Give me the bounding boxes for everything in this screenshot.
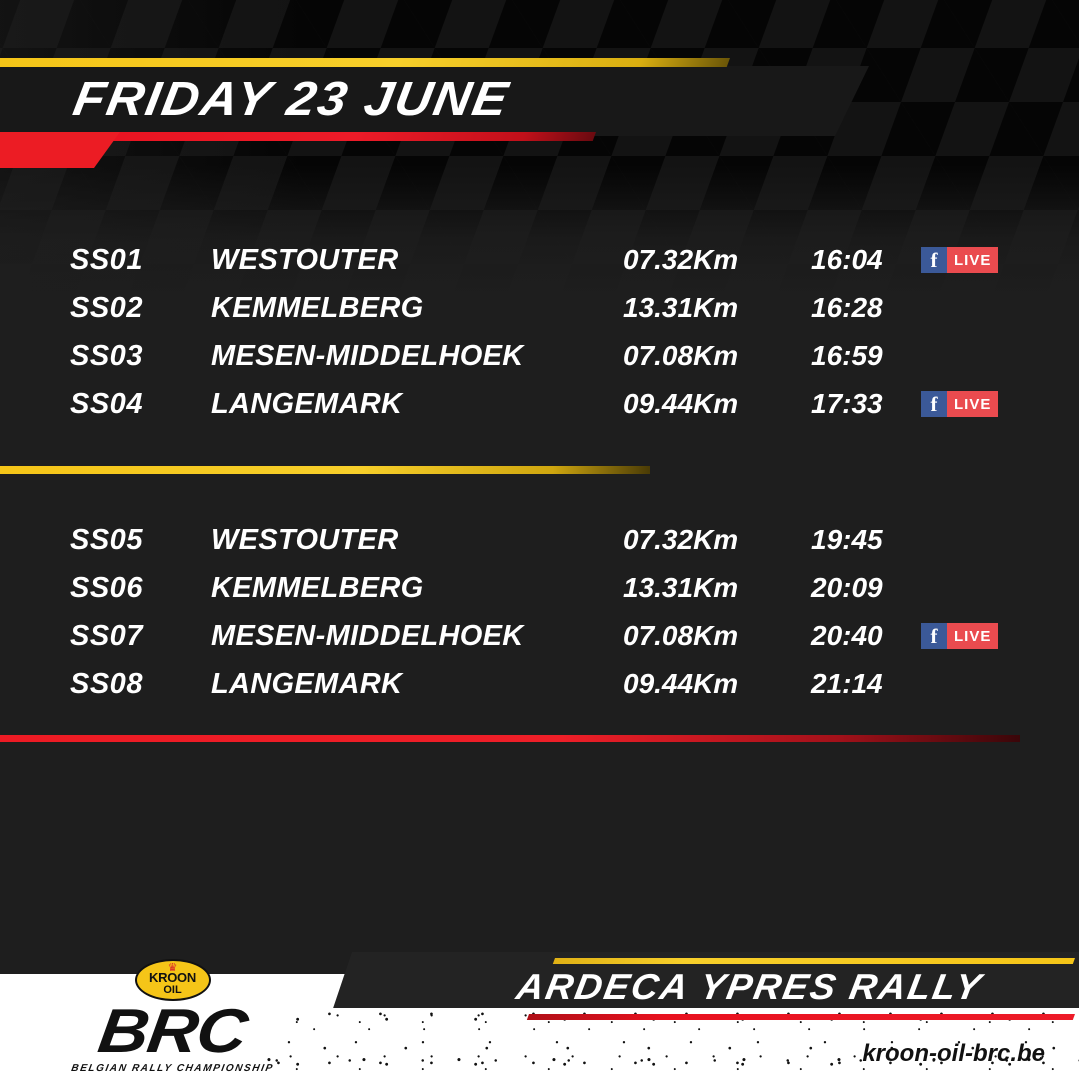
table-row[interactable]: SS03 MESEN-MIDDELHOEK 07.08Km 16:59 f LI… xyxy=(0,332,1079,380)
stage-code: SS07 xyxy=(70,620,211,653)
live-cell: f LIVE xyxy=(921,343,1011,369)
table-row[interactable]: SS07 MESEN-MIDDELHOEK 07.08Km 20:40 f LI… xyxy=(0,612,1079,660)
live-label: LIVE xyxy=(947,623,998,649)
stage-time: 21:14 xyxy=(811,668,921,700)
stage-time: 19:45 xyxy=(811,524,921,556)
live-cell: f LIVE xyxy=(921,247,1011,273)
facebook-live-badge[interactable]: f LIVE xyxy=(921,623,998,649)
table-row[interactable]: SS01 WESTOUTER 07.32Km 16:04 f LIVE xyxy=(0,236,1079,284)
stage-distance: 13.31Km xyxy=(623,292,811,324)
stage-code: SS08 xyxy=(70,668,211,701)
stage-time: 16:04 xyxy=(811,244,921,276)
live-cell: f LIVE xyxy=(921,295,1011,321)
crown-icon: ♛ xyxy=(168,963,178,974)
live-cell: f LIVE xyxy=(921,527,1011,553)
stage-group-loop-1: SS01 WESTOUTER 07.32Km 16:04 f LIVE SS02… xyxy=(0,236,1079,428)
stage-code: SS04 xyxy=(70,388,211,421)
facebook-live-badge[interactable]: f LIVE xyxy=(921,391,998,417)
stage-distance: 07.32Km xyxy=(623,524,811,556)
stage-distance: 09.44Km xyxy=(623,668,811,700)
stage-time: 20:40 xyxy=(811,620,921,652)
rally-schedule-poster: FRIDAY 23 JUNE SS01 WESTOUTER 07.32Km 16… xyxy=(0,0,1079,1080)
stage-distance: 07.08Km xyxy=(623,340,811,372)
website-url[interactable]: kroon-oil-brc.be xyxy=(862,1040,1045,1068)
brc-tagline: BELGIAN RALLY CHAMPIONSHIP xyxy=(59,1063,286,1074)
facebook-icon: f xyxy=(921,247,947,273)
stage-name: KEMMELBERG xyxy=(211,292,623,325)
event-red-accent-bar xyxy=(527,1014,1075,1020)
divider-red xyxy=(0,735,1020,742)
table-row[interactable]: SS08 LANGEMARK 09.44Km 21:14 f LIVE xyxy=(0,660,1079,708)
facebook-icon: f xyxy=(921,623,947,649)
stage-time: 16:59 xyxy=(811,340,921,372)
stage-distance: 07.32Km xyxy=(623,244,811,276)
brc-wordmark: BRC xyxy=(42,1003,302,1060)
footer: ♛ KROON OIL BRC BELGIAN RALLY CHAMPIONSH… xyxy=(0,952,1079,1080)
stage-distance: 13.31Km xyxy=(623,572,811,604)
stage-name: LANGEMARK xyxy=(211,388,623,421)
stage-schedule: SS01 WESTOUTER 07.32Km 16:04 f LIVE SS02… xyxy=(0,236,1079,708)
stage-code: SS06 xyxy=(70,572,211,605)
stage-code: SS01 xyxy=(70,244,211,277)
kroon-oil-logo: ♛ KROON OIL xyxy=(135,959,211,1001)
stage-name: MESEN-MIDDELHOEK xyxy=(211,340,623,373)
stage-name: WESTOUTER xyxy=(211,244,623,277)
event-name: ARDECA YPRES RALLY xyxy=(513,966,986,1008)
stage-code: SS05 xyxy=(70,524,211,557)
facebook-icon: f xyxy=(921,391,947,417)
live-cell: f LIVE xyxy=(921,671,1011,697)
table-row[interactable]: SS04 LANGEMARK 09.44Km 17:33 f LIVE xyxy=(0,380,1079,428)
header-yellow-accent-bar xyxy=(0,58,730,67)
live-cell: f LIVE xyxy=(921,575,1011,601)
stage-code: SS03 xyxy=(70,340,211,373)
stage-distance: 09.44Km xyxy=(623,388,811,420)
page-title: FRIDAY 23 JUNE xyxy=(69,72,514,127)
stage-time: 17:33 xyxy=(811,388,921,420)
stage-group-loop-2: SS05 WESTOUTER 07.32Km 19:45 f LIVE SS06… xyxy=(0,516,1079,708)
stage-name: LANGEMARK xyxy=(211,668,623,701)
kroon-oil-line2: OIL xyxy=(163,985,181,996)
table-row[interactable]: SS06 KEMMELBERG 13.31Km 20:09 f LIVE xyxy=(0,564,1079,612)
facebook-live-badge[interactable]: f LIVE xyxy=(921,247,998,273)
stage-name: MESEN-MIDDELHOEK xyxy=(211,620,623,653)
table-row[interactable]: SS05 WESTOUTER 07.32Km 19:45 f LIVE xyxy=(0,516,1079,564)
stage-name: WESTOUTER xyxy=(211,524,623,557)
live-cell: f LIVE xyxy=(921,391,1011,417)
stage-code: SS02 xyxy=(70,292,211,325)
stage-time: 20:09 xyxy=(811,572,921,604)
stage-time: 16:28 xyxy=(811,292,921,324)
live-label: LIVE xyxy=(947,391,998,417)
event-logo: ARDECA YPRES RALLY xyxy=(493,958,1073,1038)
brc-logo[interactable]: ♛ KROON OIL BRC BELGIAN RALLY CHAMPIONSH… xyxy=(60,959,285,1074)
event-yellow-accent-bar xyxy=(553,958,1075,964)
table-row[interactable]: SS02 KEMMELBERG 13.31Km 16:28 f LIVE xyxy=(0,284,1079,332)
live-cell: f LIVE xyxy=(921,623,1011,649)
stage-name: KEMMELBERG xyxy=(211,572,623,605)
live-label: LIVE xyxy=(947,247,998,273)
stage-distance: 07.08Km xyxy=(623,620,811,652)
